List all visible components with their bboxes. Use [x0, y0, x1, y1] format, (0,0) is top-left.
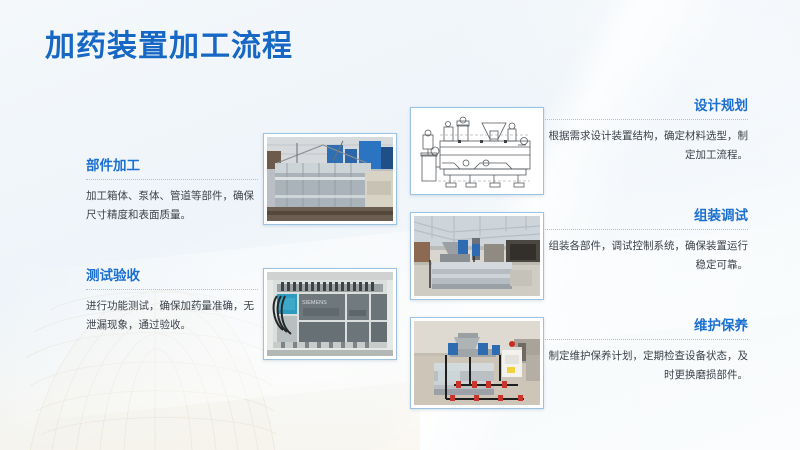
step-heading: 设计规划: [543, 98, 748, 119]
photo-dosing-device-workshop: [410, 212, 544, 300]
step-heading: 部件加工: [86, 158, 258, 179]
step-heading: 测试验收: [86, 268, 258, 289]
slide-canvas: 加药装置加工流程 部件加工 加工箱体、泵体、管道等部件，确保尺寸精度和表面质量。…: [0, 0, 800, 450]
photo-stainless-tanks-wrapped: [263, 133, 397, 225]
step-block-maintenance: 维护保养 制定维护保养计划，定期检查设备状态，及时更换磨损部件。: [543, 318, 748, 384]
step-block-parts-machining: 部件加工 加工箱体、泵体、管道等部件，确保尺寸精度和表面质量。: [86, 158, 258, 224]
photo-siemens-control-panel: SIEMENS: [263, 268, 397, 360]
divider: [86, 289, 258, 290]
step-heading: 维护保养: [543, 318, 748, 339]
step-heading: 组装调试: [543, 208, 748, 229]
svg-text:SIEMENS: SIEMENS: [302, 300, 327, 306]
step-body: 根据需求设计装置结构，确定材料选型，制定加工流程。: [543, 127, 748, 164]
photo-dosing-device-drawing: [410, 107, 544, 195]
divider: [543, 339, 748, 340]
step-block-design-planning: 设计规划 根据需求设计装置结构，确定材料选型，制定加工流程。: [543, 98, 748, 164]
divider: [543, 119, 748, 120]
page-title: 加药装置加工流程: [45, 30, 293, 63]
step-body: 进行功能测试，确保加药量准确，无泄漏现象，通过验收。: [86, 297, 258, 334]
step-body: 组装各部件，调试控制系统，确保装置运行稳定可靠。: [543, 237, 748, 274]
divider: [543, 229, 748, 230]
divider: [86, 179, 258, 180]
photo-dosing-device-assembled: [410, 317, 544, 409]
step-body: 加工箱体、泵体、管道等部件，确保尺寸精度和表面质量。: [86, 187, 258, 224]
step-body: 制定维护保养计划，定期检查设备状态，及时更换磨损部件。: [543, 347, 748, 384]
step-block-assembly-commissioning: 组装调试 组装各部件，调试控制系统，确保装置运行稳定可靠。: [543, 208, 748, 274]
step-block-testing-acceptance: 测试验收 进行功能测试，确保加药量准确，无泄漏现象，通过验收。: [86, 268, 258, 334]
